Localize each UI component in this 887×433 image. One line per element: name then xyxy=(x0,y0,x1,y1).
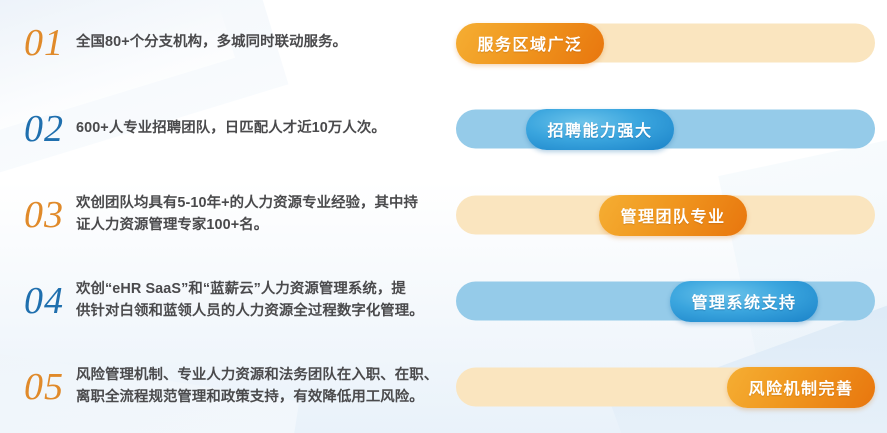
row-description: 欢创“eHR SaaS”和“蓝薪云”人力资源管理系统，提 供针对白领和蓝领人员的… xyxy=(76,279,448,323)
row-badge[interactable]: 招聘能力强大 xyxy=(526,109,674,150)
row-track: 招聘能力强大 xyxy=(456,110,875,149)
feature-row: 04 欢创“eHR SaaS”和“蓝薪云”人力资源管理系统，提 供针对白领和蓝领… xyxy=(0,258,887,344)
row-description: 全国80+个分支机构，多城同时联动服务。 xyxy=(76,32,448,54)
row-description-line: 证人力资源管理专家100+名。 xyxy=(76,215,448,237)
row-description-line: 离职全流程规范管理和政策支持，有效降低用工风险。 xyxy=(76,387,448,409)
row-badge[interactable]: 服务区域广泛 xyxy=(456,23,604,64)
row-description-line: 600+人专业招聘团队，日匹配人才近10万人次。 xyxy=(76,118,448,140)
row-track: 管理系统支持 xyxy=(456,282,875,321)
row-track: 服务区域广泛 xyxy=(456,24,875,63)
feature-row: 03 欢创团队均具有5-10年+的人力资源专业经验，其中持 证人力资源管理专家1… xyxy=(0,172,887,258)
infographic-panel: 01 全国80+个分支机构，多城同时联动服务。 服务区域广泛 02 600+人专… xyxy=(0,0,887,433)
feature-row: 02 600+人专业招聘团队，日匹配人才近10万人次。 招聘能力强大 xyxy=(0,86,887,172)
row-description: 风险管理机制、专业人力资源和法务团队在入职、在职、 离职全流程规范管理和政策支持… xyxy=(76,365,448,409)
row-description-line: 欢创团队均具有5-10年+的人力资源专业经验，其中持 xyxy=(76,193,448,215)
row-description: 欢创团队均具有5-10年+的人力资源专业经验，其中持 证人力资源管理专家100+… xyxy=(76,193,448,237)
row-description: 600+人专业招聘团队，日匹配人才近10万人次。 xyxy=(76,118,448,140)
row-track: 管理团队专业 xyxy=(456,196,875,235)
row-description-line: 全国80+个分支机构，多城同时联动服务。 xyxy=(76,32,448,54)
row-badge[interactable]: 风险机制完善 xyxy=(727,367,875,408)
row-description-line: 欢创“eHR SaaS”和“蓝薪云”人力资源管理系统，提 xyxy=(76,279,448,301)
row-badge[interactable]: 管理系统支持 xyxy=(670,281,818,322)
row-badge[interactable]: 管理团队专业 xyxy=(599,195,747,236)
row-description-line: 供针对白领和蓝领人员的人力资源全过程数字化管理。 xyxy=(76,301,448,323)
feature-row: 05 风险管理机制、专业人力资源和法务团队在入职、在职、 离职全流程规范管理和政… xyxy=(0,344,887,430)
row-description-line: 风险管理机制、专业人力资源和法务团队在入职、在职、 xyxy=(76,365,448,387)
feature-row: 01 全国80+个分支机构，多城同时联动服务。 服务区域广泛 xyxy=(0,0,887,86)
row-track: 风险机制完善 xyxy=(456,368,875,407)
